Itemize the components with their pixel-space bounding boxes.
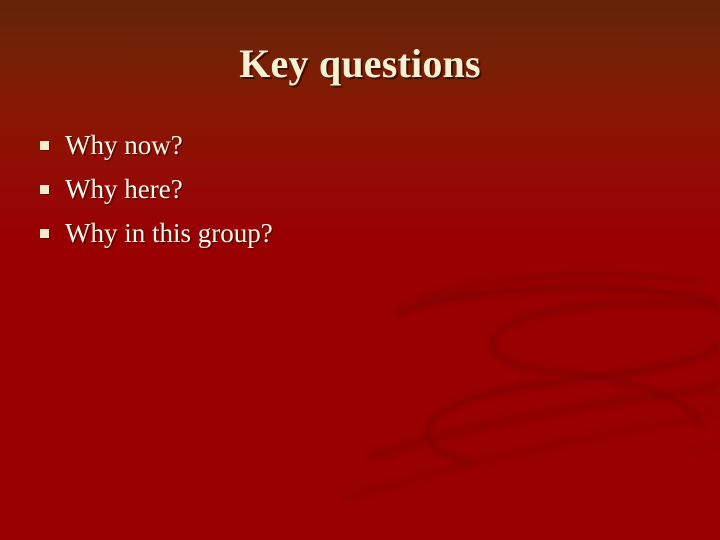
presentation-slide: Key questions Why now? Why here? Why in … [0,0,720,540]
slide-bullet-list: Why now? Why here? Why in this group? [40,131,680,263]
list-item: Why here? [40,175,680,211]
square-bullet-icon [40,141,49,150]
bullet-text: Why in this group? [65,219,273,247]
square-bullet-icon [40,185,49,194]
square-bullet-icon [40,229,49,238]
list-item: Why in this group? [40,219,680,255]
list-item: Why now? [40,131,680,167]
bullet-text: Why here? [65,175,183,203]
slide-title: Key questions [0,42,720,86]
bullet-text: Why now? [65,131,183,159]
